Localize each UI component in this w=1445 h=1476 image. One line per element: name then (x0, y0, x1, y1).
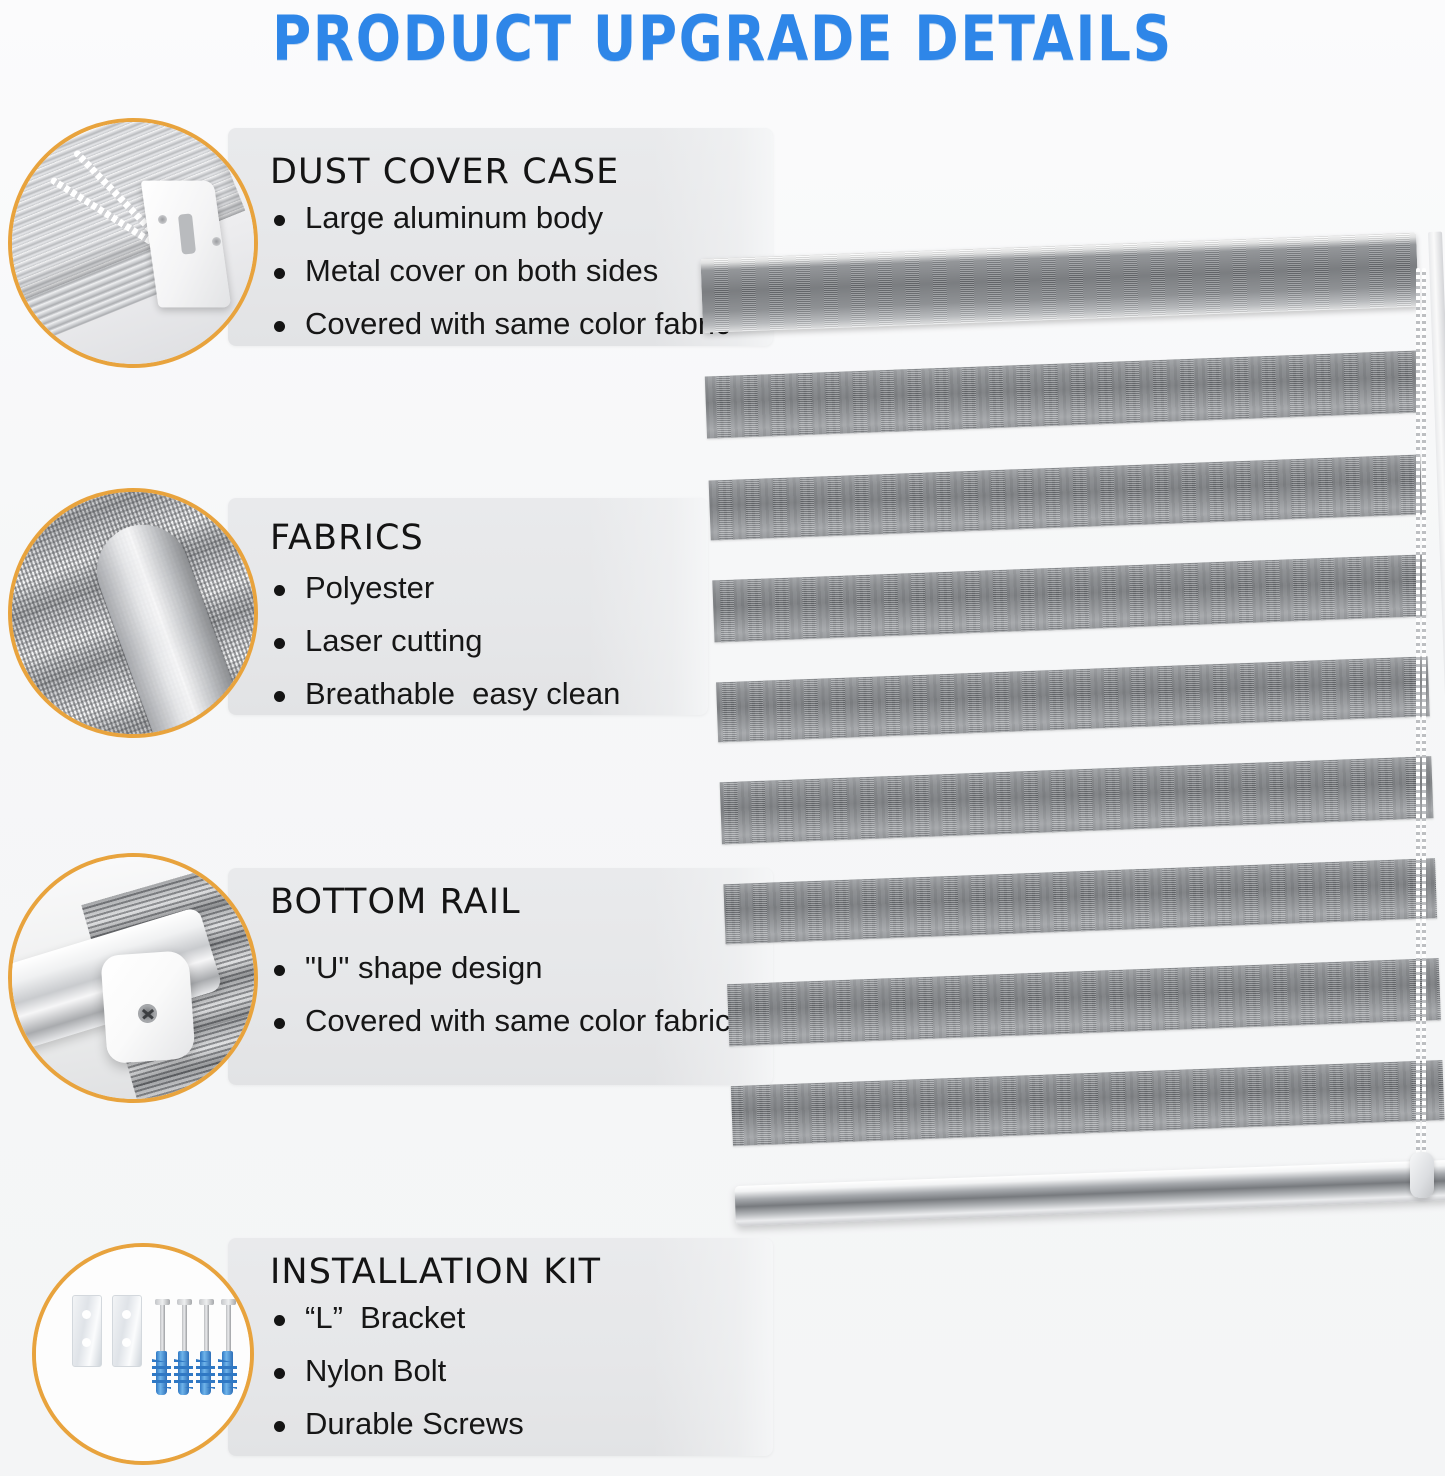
list-item: Polyester (272, 570, 620, 606)
bullet-list-installation-kit: “L” Bracket Nylon Bolt Durable Screws (272, 1300, 524, 1442)
fabric-slat (709, 455, 1423, 541)
chain-tensioner (1410, 1152, 1434, 1198)
list-item: Laser cutting (272, 623, 620, 659)
fabric-slat (720, 756, 1434, 844)
bead-chain-control[interactable] (1416, 268, 1425, 1198)
fabric-slat (712, 554, 1426, 642)
page-title: PRODUCT UPGRADE DETAILS (101, 2, 1344, 75)
list-item: "U" shape design (272, 950, 731, 986)
list-item: Covered with same color fabric (272, 1003, 731, 1039)
list-item: Durable Screws (272, 1406, 524, 1442)
screw-item (226, 1303, 231, 1351)
photo-dust-cover-case (8, 118, 258, 368)
fabric-slat (723, 858, 1437, 944)
l-bracket-item (72, 1295, 102, 1367)
list-item: “L” Bracket (272, 1300, 524, 1336)
fabric-slat (716, 656, 1430, 742)
nylon-bolt-item (200, 1351, 211, 1395)
l-bracket-item (112, 1295, 142, 1367)
bullet-list-fabrics: Polyester Laser cutting Breathable easy … (272, 570, 620, 712)
section-heading-installation-kit: INSTALLATION KIT (270, 1252, 601, 1292)
bottom-rail-part (734, 1160, 1445, 1226)
list-item: Nylon Bolt (272, 1353, 524, 1389)
list-item: Covered with same color fabric (272, 306, 731, 342)
section-heading-dust-cover-case: DUST COVER CASE (270, 152, 619, 192)
nylon-bolt-item (178, 1351, 189, 1395)
list-item: Breathable easy clean (272, 676, 620, 712)
screw-item (204, 1303, 209, 1351)
chain-strand-left (1416, 268, 1420, 1198)
screw-item (182, 1303, 187, 1351)
photo-bottom-rail (8, 853, 258, 1103)
chain-strand-right (1422, 268, 1426, 1198)
fabric-slat (731, 1060, 1445, 1146)
product-image-zebra-blind (700, 232, 1430, 1222)
headrail-part (700, 233, 1418, 333)
list-item: Large aluminum body (272, 200, 731, 236)
photo-installation-kit (32, 1243, 254, 1465)
fabric-slat (705, 351, 1419, 439)
list-item: Metal cover on both sides (272, 253, 731, 289)
screw-item (160, 1303, 165, 1351)
nylon-bolt-item (222, 1351, 233, 1395)
section-heading-bottom-rail: BOTTOM RAIL (270, 882, 521, 922)
bullet-list-bottom-rail: "U" shape design Covered with same color… (272, 950, 731, 1039)
fabric-slat (727, 958, 1441, 1046)
nylon-bolt-item (156, 1351, 167, 1395)
infographic-canvas: PRODUCT UPGRADE DETAILS (0, 0, 1445, 1476)
section-heading-fabrics: FABRICS (270, 518, 424, 558)
bullet-list-dust-cover-case: Large aluminum body Metal cover on both … (272, 200, 731, 342)
photo-fabrics (8, 488, 258, 738)
